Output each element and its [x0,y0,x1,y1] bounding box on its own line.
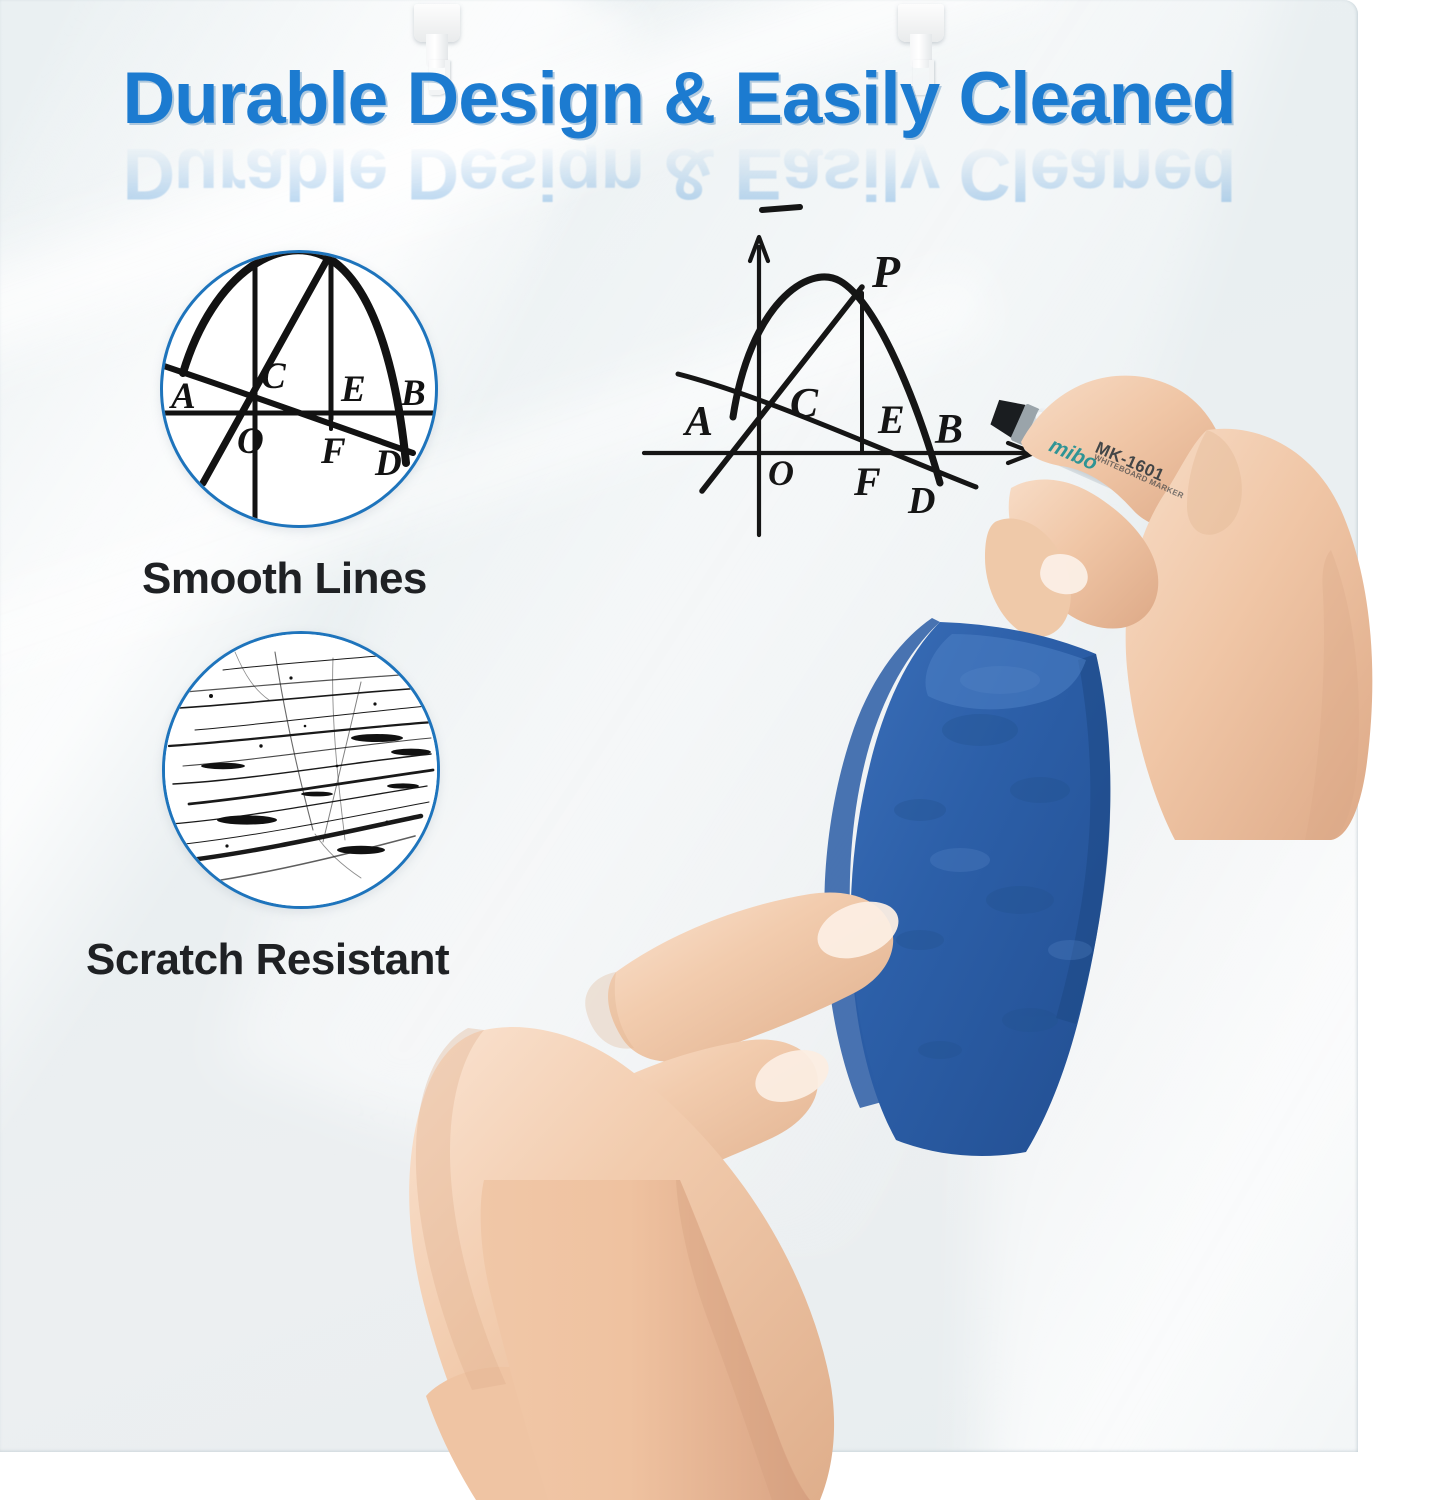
feature-smooth-lines: A C E B O F D Smooth Lines [160,250,438,604]
graph-label-b: B [400,373,426,414]
graph-label-o: O [237,421,264,462]
forearm [380,1180,1060,1500]
product-feature-image: Durable Design & Easily Cleaned Durable … [0,0,1445,1500]
magnified-graph-drawing: A C E B O F D [163,253,435,525]
graph-label-f: F [320,431,346,472]
graph-label-c: C [261,356,287,397]
sketch-label-e: E [877,397,905,442]
sketch-label-f: F [853,459,881,504]
magnifier-circle-smooth-lines: A C E B O F D [160,250,438,528]
sketch-label-a: A [682,399,713,445]
graph-label-a: A [169,376,196,417]
feature-label-smooth-lines: Smooth Lines [142,554,438,604]
sketch-label-d: D [907,480,935,522]
headline-block: Durable Design & Easily Cleaned Durable … [0,62,1358,192]
sketch-label-p: P [871,246,901,297]
sketch-label-o: O [768,453,794,493]
whiteboard-eraser [824,618,1110,1156]
page-title: Durable Design & Easily Cleaned [0,62,1358,135]
sketch-label-c: C [790,381,819,427]
sketch-label-b: B [934,407,963,453]
graph-label-e: E [340,369,366,410]
graph-label-d: D [374,443,402,484]
